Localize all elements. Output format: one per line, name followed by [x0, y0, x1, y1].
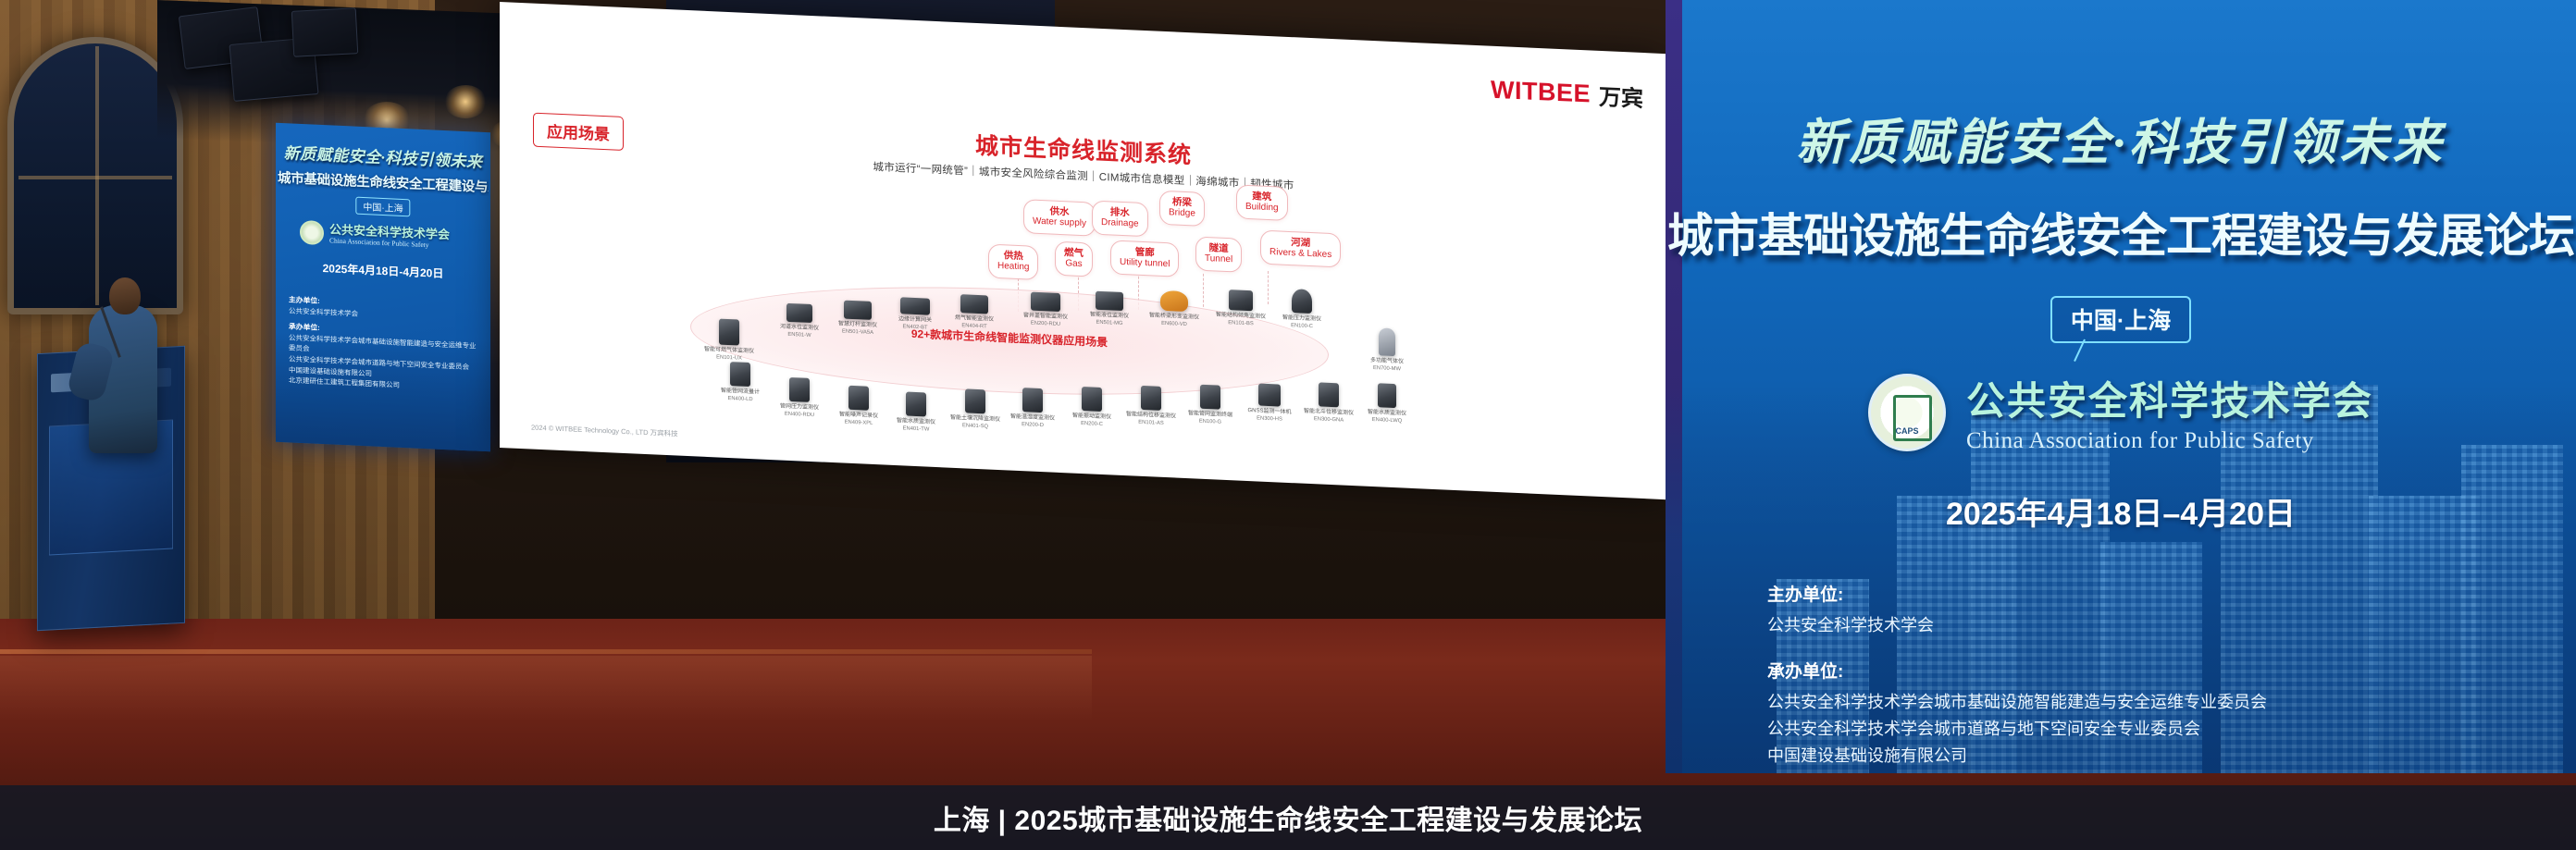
witbee-wordmark-cn: 万宾 — [1599, 79, 1643, 113]
device-item: 管网压力监测仪 EN400-RDU — [774, 376, 825, 418]
device-item: 智能土壤沉降监测仪 EN401-SQ — [949, 388, 1001, 430]
caption-text: 上海 | 2025城市基础设施生命线安全工程建设与发展论坛 — [934, 797, 1642, 838]
caps-seal-logo — [300, 220, 324, 245]
scene-pill-gas: 燃气 Gas — [1055, 241, 1093, 277]
scene-pill-bridge: 桥梁 Bridge — [1159, 191, 1205, 227]
scene-en: Building — [1245, 202, 1279, 214]
device-item: 窨井盖智能监测仪 EN200-RDU — [1018, 291, 1073, 327]
witbee-wordmark-en: WITBEE — [1491, 76, 1591, 109]
scene-en: Gas — [1064, 259, 1084, 271]
device-item: 河道水位监测仪 EN501-W — [774, 302, 825, 339]
scene-pill-heating: 供热 Heating — [988, 244, 1038, 281]
scene-en: Water supply — [1033, 216, 1086, 229]
scene-en: Heating — [997, 261, 1029, 273]
banner-forum-title: 城市基础设施生命线安全工程建设与发展论坛 — [1666, 199, 2576, 265]
stage-floor-sheen — [0, 656, 1092, 721]
banner-association-texts: 公共安全科学技术学会 China Association for Public … — [1966, 370, 2373, 454]
scene-pill-tunnel: 隧道 Tunnel — [1195, 236, 1242, 272]
line-array-speaker — [291, 7, 359, 57]
device-icon — [1258, 384, 1281, 407]
device-icon — [848, 386, 869, 411]
mini-banner-location-chip: 中国·上海 — [355, 197, 410, 217]
organizer-sub-block: 承办单位: 公共安全科学技术学会城市基础设施智能建造与安全运维专业委员会 公共安… — [1767, 658, 2539, 773]
main-led-banner: 新质赋能安全·科技引领未来 城市基础设施生命线安全工程建设与发展论坛 中国·上海… — [1666, 0, 2576, 773]
device-icon — [1200, 385, 1220, 410]
connector-line — [1268, 271, 1269, 304]
scene-en: Utility tunnel — [1120, 257, 1170, 270]
caps-seal-logo — [1868, 374, 1946, 451]
device-icon — [1141, 386, 1161, 411]
device-icon — [1379, 327, 1395, 356]
banner-location-chip: 中国·上海 — [2050, 296, 2191, 343]
organizer-line: 中国建设基础设施有限公司 — [1767, 743, 2539, 770]
secondary-led-banner: 新质赋能安全·科技引领未来 城市基础设施生命线安全工程建设与发展论坛 中国·上海… — [276, 123, 490, 452]
device-item: 智能可燃气体监测仪 EN101-UX — [703, 318, 755, 362]
device-icon — [844, 301, 872, 320]
slide-footer: 2024 © WITBEE Technology Co., LTD 万宾科技 — [531, 423, 678, 439]
mini-organizer-lines: 公共安全科学技术学会城市基础设施智能建造与安全运维专业委员会 公共安全科学技术学… — [289, 333, 477, 389]
device-code: EN700-MW — [1360, 364, 1414, 373]
device-item: GNSS监测一体机 EN300-HS — [1244, 383, 1295, 423]
device-icon — [786, 303, 812, 323]
host-heading: 主办单位: — [1767, 581, 2539, 606]
organizer-line: 公共安全科学技术学会城市基础设施智能建造与安全运维专业委员会 — [1767, 689, 2539, 716]
scene-pill-water-supply: 供水 Water supply — [1023, 199, 1096, 237]
scene-en: Drainage — [1101, 217, 1139, 230]
banner-calligraphy-slogan: 新质赋能安全·科技引领未来 — [1666, 104, 2576, 174]
device-icon — [789, 377, 810, 402]
organizer-line: 北京建研住工建筑工程集团有限公司 — [1767, 770, 2539, 773]
device-item: 智能管网监测终端 EN100-G — [1184, 384, 1236, 425]
device-item: 智能结构倾角监测仪 EN101-BS — [1214, 289, 1268, 326]
device-icon — [1319, 382, 1339, 407]
device-item: 智能温湿度监测仪 EN200-D — [1007, 387, 1059, 428]
scene-en: Rivers & Lakes — [1269, 247, 1331, 261]
device-item: 智能振动监测仪 EN200-C — [1066, 386, 1118, 427]
device-icon — [1292, 289, 1312, 314]
slide-content: WITBEE 万宾 应用场景 城市生命线监测系统 城市运行“一网统管”｜城市安全… — [500, 2, 1667, 499]
banner-association-row: 公共安全科学技术学会 China Association for Public … — [1666, 370, 2576, 454]
host-line: 公共安全科学技术学会 — [1767, 612, 2539, 639]
device-icon — [1160, 290, 1188, 312]
device-item: 智能水质监测仪 EN401-TW — [890, 391, 942, 433]
device-item: 智能液位监测仪 EN501-MG — [1083, 290, 1136, 326]
conference-photo: 新质赋能安全·科技引领未来 城市基础设施生命线安全工程建设与发展论坛 中国·上海… — [0, 0, 2576, 850]
device-icon — [960, 294, 988, 314]
stage-spotlight — [444, 85, 487, 118]
device-item: 智能水质监测仪 EN400-LWQ — [1360, 382, 1414, 424]
presenter-head — [109, 277, 141, 314]
scene-pill-rivers-lakes: 河湖 Rivers & Lakes — [1260, 230, 1341, 268]
scene-en: Bridge — [1169, 208, 1195, 220]
device-item: 多功能气体仪 EN700-MW — [1360, 326, 1414, 372]
device-item: 智能结构位移监测仪 EN101-AS — [1125, 385, 1177, 426]
banner-location-wrap: 中国·上海 — [1666, 296, 2576, 343]
device-icon — [900, 297, 930, 314]
connector-line — [1203, 274, 1204, 307]
device-item: 智慧灯杆监测仪 EN501-VA5A — [831, 300, 885, 336]
device-icon — [1022, 388, 1043, 413]
device-icon — [1031, 292, 1060, 312]
stage-floor-edge — [0, 649, 1092, 654]
mini-banner-organizers: 主办单位: 公共安全科学技术学会 承办单位: 公共安全科学技术学会城市基础设施智… — [289, 289, 481, 394]
scene-pill-building: 建筑 Building — [1236, 184, 1288, 221]
device-item: 智能管网流量计 EN400-LD — [714, 361, 766, 402]
scene-en: Tunnel — [1205, 253, 1232, 265]
mini-banner-title: 城市基础设施生命线安全工程建设与发展论坛 — [278, 167, 489, 196]
device-icon — [1096, 291, 1123, 311]
organizer-line: 公共安全科学技术学会城市道路与地下空间安全专业委员会 — [1767, 716, 2539, 743]
device-icon — [906, 392, 926, 417]
scene-pill-utility-tunnel: 管廊 Utility tunnel — [1110, 240, 1179, 277]
banner-association-cn: 公共安全科学技术学会 — [1966, 370, 2373, 426]
banner-association-en: China Association for Public Safety — [1966, 428, 2373, 454]
device-item: 燃气智能监测仪 EN404-RT — [947, 294, 1001, 330]
device-icon — [719, 319, 739, 346]
scene-pill-drainage: 排水 Drainage — [1092, 201, 1148, 238]
device-item: 智能北斗位移监测仪 EN300-GNA — [1303, 382, 1355, 424]
device-icon — [1082, 387, 1102, 412]
scene-cn: 燃气 — [1064, 247, 1084, 259]
mini-banner-date: 2025年4月18日-4月20日 — [276, 258, 490, 284]
caption-bar: 上海 | 2025城市基础设施生命线安全工程建设与发展论坛 — [0, 785, 2576, 850]
device-item: 智能桥梁形变监测仪 EN600-VD — [1147, 289, 1201, 327]
mini-banner-calligraphy: 新质赋能安全·科技引领未来 — [281, 140, 485, 172]
device-icon — [1378, 383, 1396, 408]
device-icon — [730, 362, 750, 387]
witbee-logo: WITBEE 万宾 — [1491, 74, 1643, 113]
device-icon — [965, 388, 985, 413]
device-item: 智能压力监测仪 EN100-C — [1275, 288, 1329, 329]
mini-host-line: 公共安全科学技术学会 — [289, 306, 358, 317]
banner-organizer-block: 主办单位: 公共安全科学技术学会 承办单位: 公共安全科学技术学会城市基础设施智… — [1767, 581, 2539, 773]
device-item: 智能噪声记录仪 EN409-XPL — [833, 385, 885, 426]
device-item: 边缘计算网关 EN402-BT — [888, 297, 942, 331]
organizer-heading: 承办单位: — [1767, 658, 2539, 683]
banner-event-date: 2025年4月18日–4月20日 — [1666, 488, 2576, 534]
device-icon — [1229, 289, 1253, 311]
projection-screen: WITBEE 万宾 应用场景 城市生命线监测系统 城市运行“一网统管”｜城市安全… — [500, 2, 1667, 499]
